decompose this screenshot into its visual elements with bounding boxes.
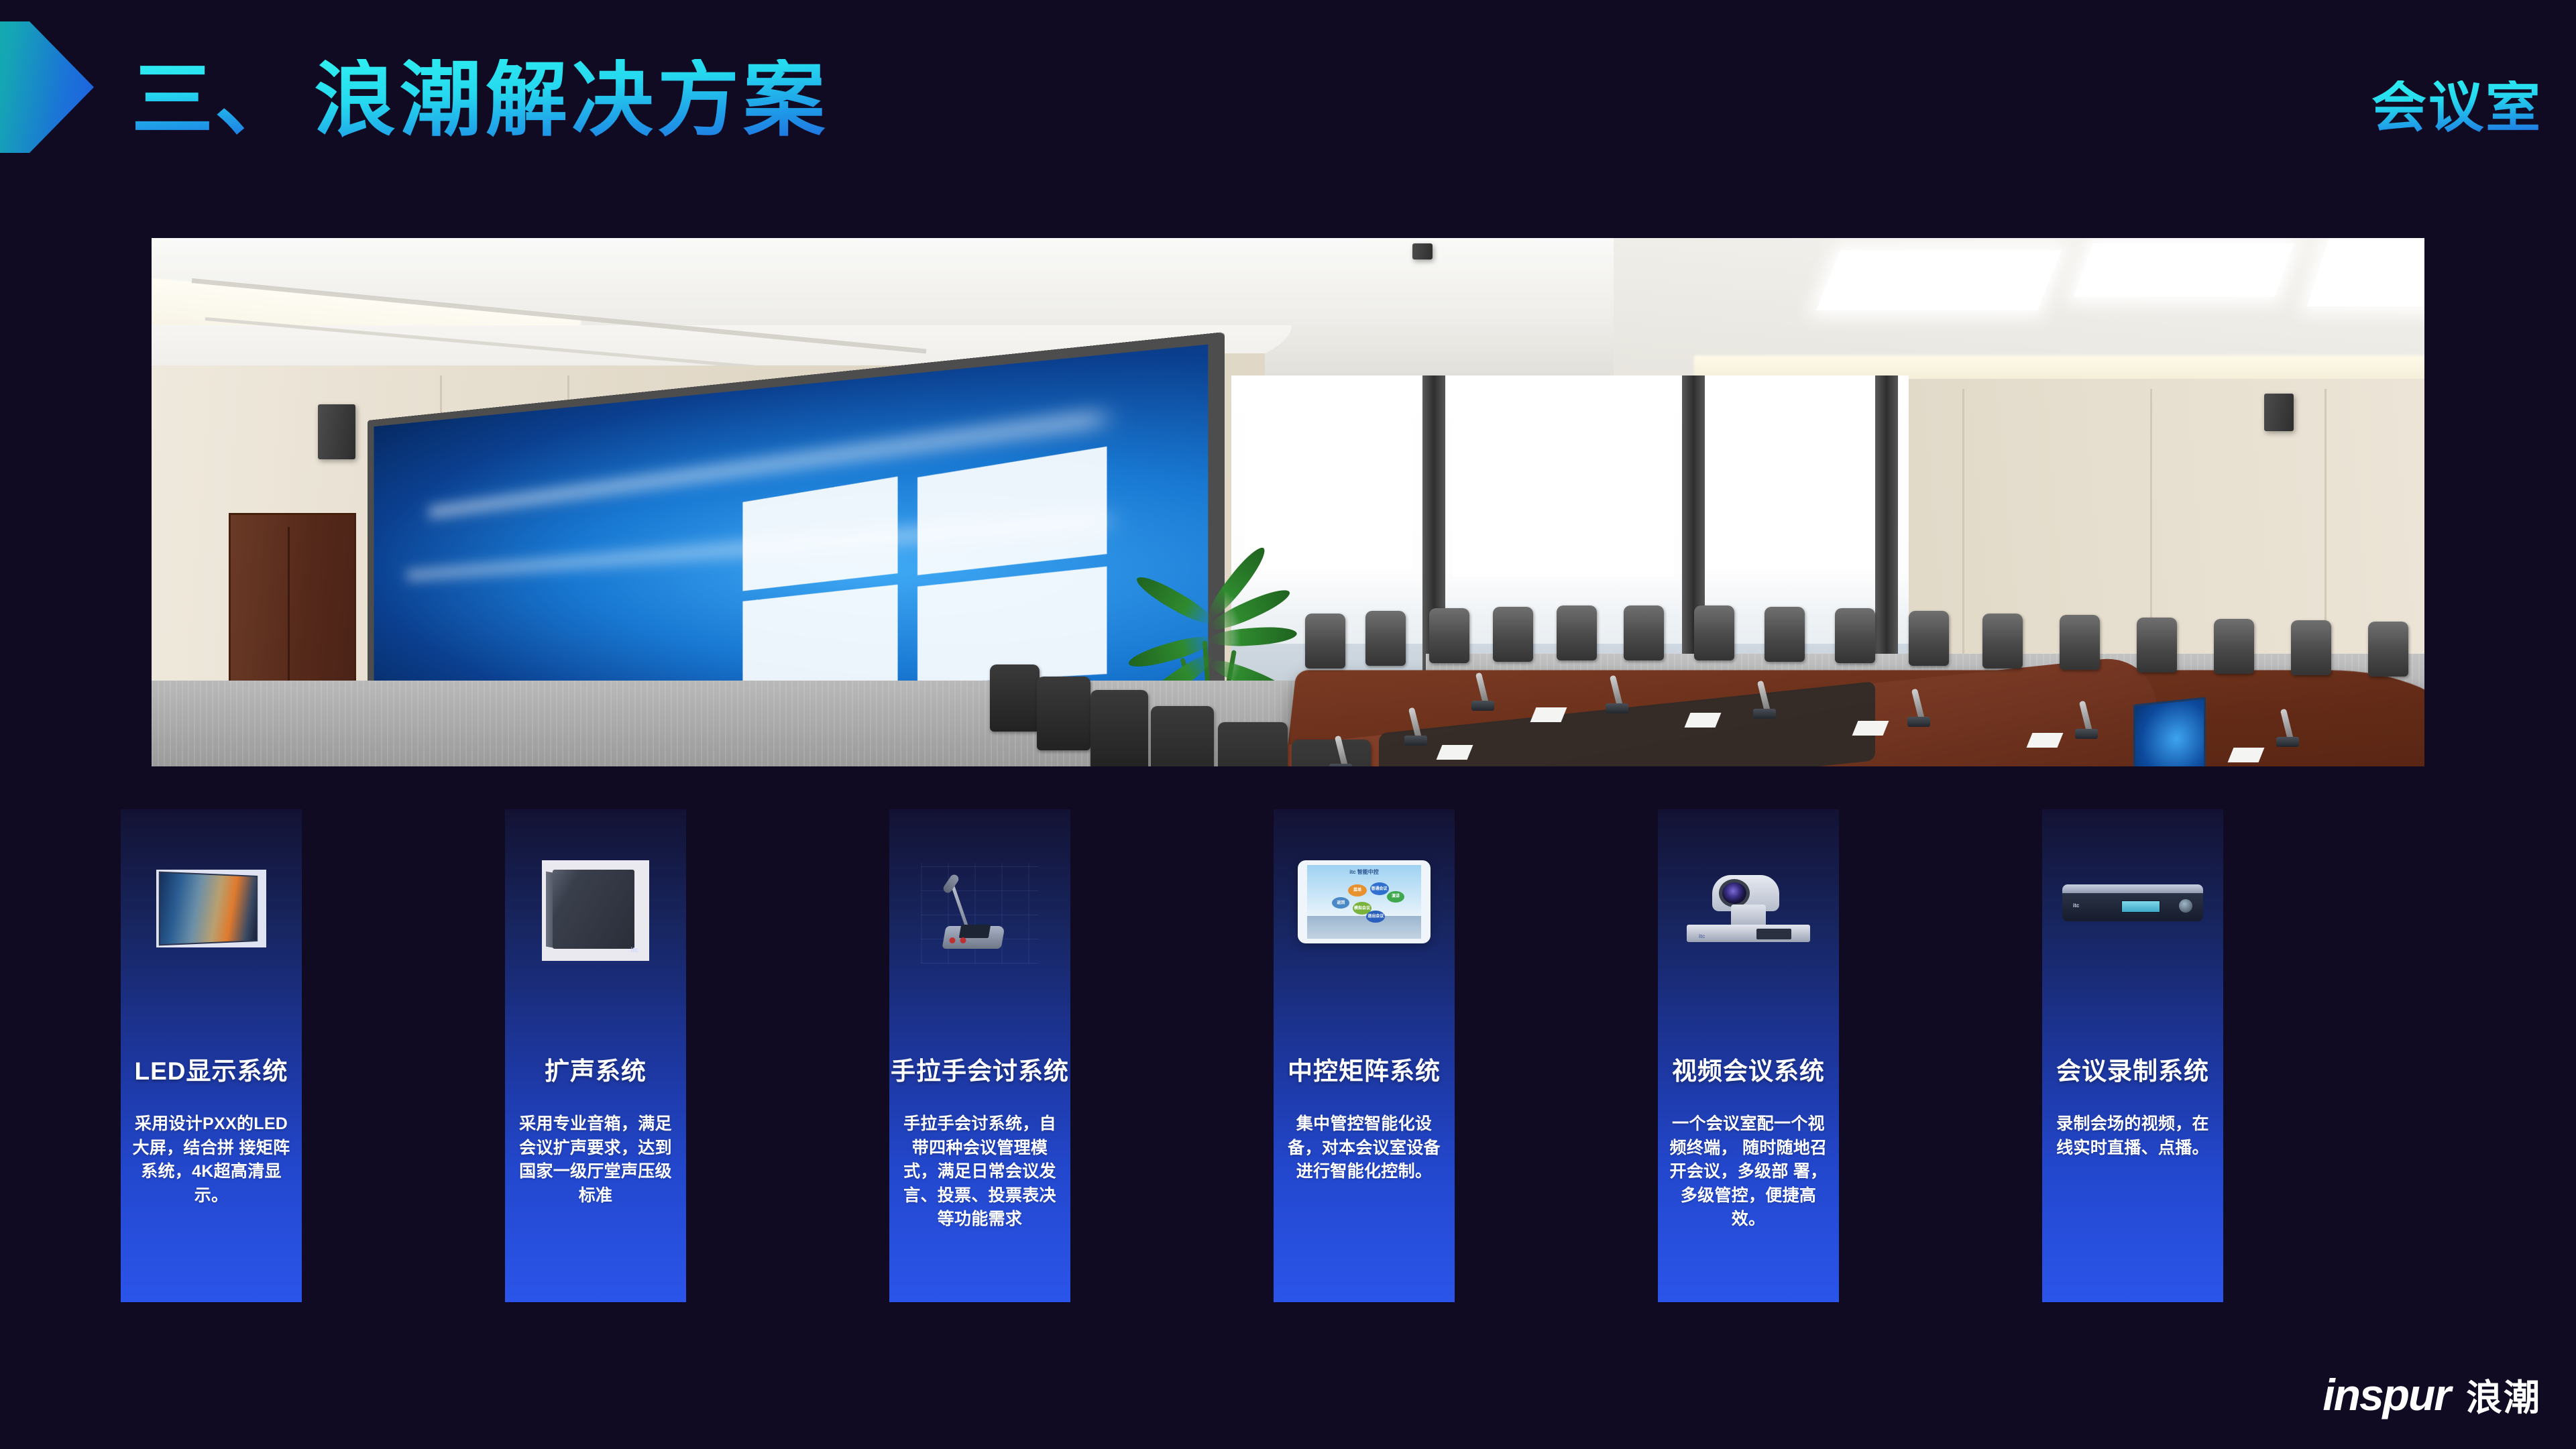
solution-card-discussion-system[interactable]: 手拉手会讨系统 手拉手会讨系统，自带四种会议管理模式，满足日常会议发言、投票、投… — [889, 809, 1070, 1302]
table-monitor — [2133, 697, 2206, 766]
ptz-camera-icon: itc — [1658, 856, 1839, 1017]
card-description: 一个会议室配一个视频终端， 随时随地召开会议，多级部 署，多级管控，便捷高效。 — [1666, 1112, 1831, 1232]
section-number: 三、 — [131, 59, 298, 141]
logo-text-en: inspur — [2322, 1369, 2450, 1420]
itc-mark: itc — [630, 947, 638, 954]
itc-mark: itc — [1699, 933, 1705, 939]
gooseneck-microphone-icon — [889, 856, 1070, 1017]
tablet-node-normal-meeting: 普通会议 — [1370, 882, 1389, 895]
card-description: 集中管控智能化设备，对本会议室设备进行智能化控制。 — [1282, 1112, 1447, 1184]
loudspeaker-icon: itc — [505, 856, 686, 1017]
solution-card-sound-reinforcement[interactable]: itc 扩声系统 采用专业音箱，满足会议扩声要求，达到国家一级厅堂声压级标准 — [505, 809, 686, 1302]
inspur-logo: inspur 浪潮 — [2322, 1368, 2541, 1421]
card-title: 中控矩阵系统 — [1274, 1051, 1455, 1087]
slide-header: 三、 浪潮解决方案 会议室 — [0, 0, 2576, 201]
control-tablet-icon: itc 智能中控 返回 菜单 普通会议 演讲 模拟会议 退出会议 — [1274, 856, 1455, 1017]
card-title: 手拉手会讨系统 — [889, 1051, 1070, 1087]
tablet-brand-label: itc 智能中控 — [1307, 868, 1421, 876]
card-description: 采用设计PXX的LED大屏，结合拼 接矩阵系统，4K超高清显示。 — [129, 1112, 294, 1208]
tablet-node-speech: 演讲 — [1387, 891, 1404, 903]
card-description: 采用专业音箱，满足会议扩声要求，达到国家一级厅堂声压级标准 — [513, 1112, 678, 1208]
led-video-wall-icon — [121, 856, 302, 1017]
itc-mark: itc — [2073, 903, 2079, 909]
rackmount-recorder-icon: itc — [2042, 856, 2223, 1017]
ceiling-camera-icon — [1412, 243, 1433, 259]
solution-card-led-display[interactable]: LED显示系统 采用设计PXX的LED大屏，结合拼 接矩阵系统，4K超高清显示。 — [121, 809, 302, 1302]
solution-card-meeting-recording[interactable]: itc 会议录制系统 录制会场的视频，在线实时直播、点播。 — [2042, 809, 2223, 1302]
conference-room-panorama — [152, 238, 2424, 766]
wall-speaker-icon — [2264, 394, 2294, 431]
wall-speaker-icon — [318, 404, 355, 459]
card-title: 会议录制系统 — [2042, 1051, 2223, 1087]
card-description: 手拉手会讨系统，自带四种会议管理模式，满足日常会议发言、投票、投票表决等功能需求 — [897, 1112, 1062, 1232]
room-label: 会议室 — [2371, 80, 2542, 135]
card-title: 扩声系统 — [505, 1051, 686, 1087]
tablet-node-menu: 菜单 — [1348, 884, 1367, 896]
solution-card-central-control[interactable]: itc 智能中控 返回 菜单 普通会议 演讲 模拟会议 退出会议 中控矩阵系统 … — [1274, 809, 1455, 1302]
solution-card-list: LED显示系统 采用设计PXX的LED大屏，结合拼 接矩阵系统，4K超高清显示。… — [0, 809, 2576, 1302]
card-title: 视频会议系统 — [1658, 1051, 1839, 1087]
card-title: LED显示系统 — [121, 1051, 302, 1087]
card-description: 录制会场的视频，在线实时直播、点播。 — [2050, 1112, 2215, 1160]
logo-text-cn: 浪潮 — [2466, 1368, 2541, 1421]
page-title: 浪潮解决方案 — [314, 59, 829, 141]
solution-card-video-conference[interactable]: itc 视频会议系统 一个会议室配一个视频终端， 随时随地召开会议，多级部 署，… — [1658, 809, 1839, 1302]
tablet-node-back: 返回 — [1332, 897, 1349, 909]
